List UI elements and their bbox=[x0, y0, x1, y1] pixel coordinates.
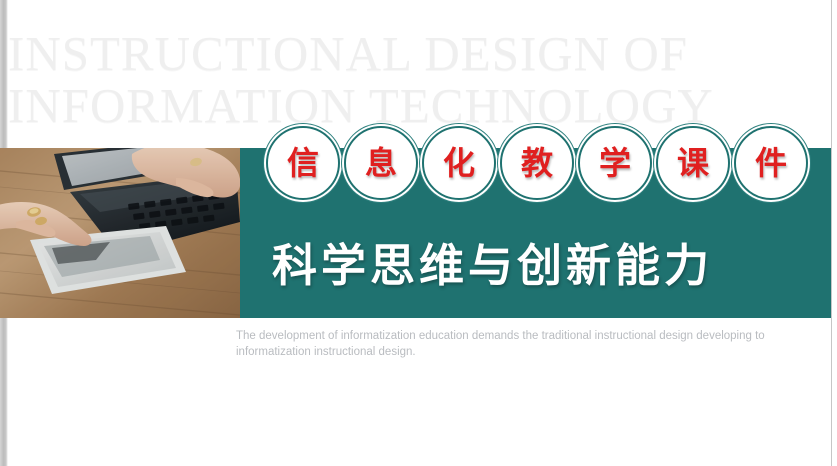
photo-illustration bbox=[0, 148, 240, 318]
badge-label: 信 bbox=[287, 147, 319, 179]
badge-label: 化 bbox=[443, 147, 475, 179]
slide-right-outer-margin bbox=[832, 0, 837, 466]
laptop-tablet-hands-photo bbox=[0, 148, 240, 318]
badge-circle-4: 教 bbox=[500, 126, 574, 200]
badge-label: 件 bbox=[755, 147, 787, 179]
badge-circle-6: 课 bbox=[656, 126, 730, 200]
badge-label: 学 bbox=[599, 147, 631, 179]
badge-circle-5: 学 bbox=[578, 126, 652, 200]
badge-circle-7: 件 bbox=[734, 126, 808, 200]
badge-circle-2: 息 bbox=[344, 126, 418, 200]
badge-label: 课 bbox=[677, 147, 709, 179]
slide-subtitle: The development of informatization educa… bbox=[236, 328, 781, 360]
badge-circle-1: 信 bbox=[266, 126, 340, 200]
badge-circle-3: 化 bbox=[422, 126, 496, 200]
badge-label: 教 bbox=[521, 147, 553, 179]
slide-canvas: INSTRUCTIONAL DESIGN OF INFORMATION TECH… bbox=[0, 0, 837, 466]
badge-label: 息 bbox=[365, 147, 397, 179]
slide-main-heading: 科学思维与创新能力 bbox=[272, 229, 713, 294]
background-watermark-heading: INSTRUCTIONAL DESIGN OF INFORMATION TECH… bbox=[8, 28, 828, 132]
badge-circle-row: 信 息 化 教 学 课 件 bbox=[266, 126, 814, 200]
